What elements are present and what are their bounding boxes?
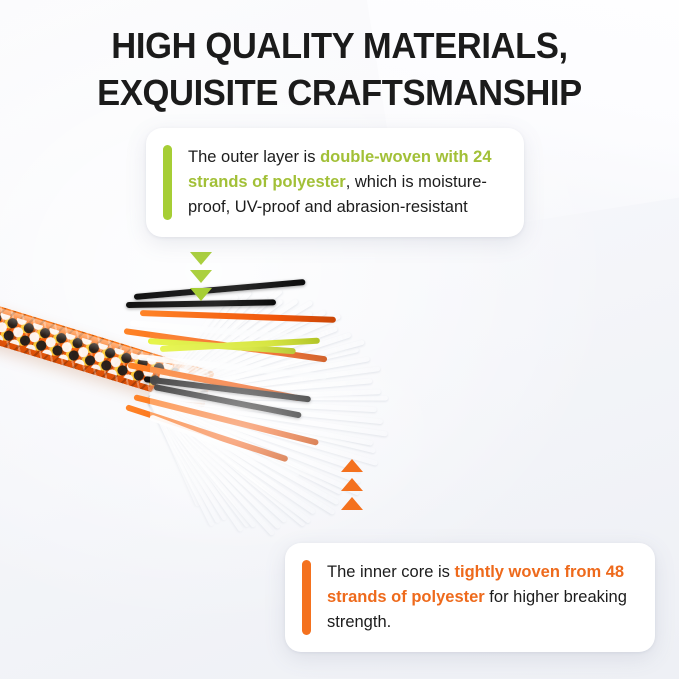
accent-bar	[163, 145, 172, 220]
loose-strands	[120, 258, 420, 488]
page-title-line-2: EXQUISITE CRAFTSMANSHIP	[14, 69, 666, 116]
orange-up-arrows	[341, 459, 363, 510]
callout-inner-core-text: The inner core is tightly woven from 48 …	[327, 560, 633, 635]
callout-outer-layer: The outer layer is double-woven with 24 …	[146, 128, 524, 237]
triangle-down-icon	[190, 252, 212, 265]
triangle-up-icon	[341, 459, 363, 472]
rope-photo	[0, 258, 430, 558]
product-infographic: HIGH QUALITY MATERIALS, EXQUISITE CRAFTS…	[0, 0, 679, 679]
page-title: HIGH QUALITY MATERIALS, EXQUISITE CRAFTS…	[14, 22, 666, 116]
triangle-up-icon	[341, 497, 363, 510]
callout-inner-core: The inner core is tightly woven from 48 …	[285, 543, 655, 652]
triangle-down-icon	[190, 288, 212, 301]
triangle-up-icon	[341, 478, 363, 491]
callout-outer-layer-text: The outer layer is double-woven with 24 …	[188, 145, 502, 220]
accent-bar	[302, 560, 311, 635]
green-down-arrows	[190, 252, 212, 301]
triangle-down-icon	[190, 270, 212, 283]
page-title-line-1: HIGH QUALITY MATERIALS,	[14, 22, 666, 69]
